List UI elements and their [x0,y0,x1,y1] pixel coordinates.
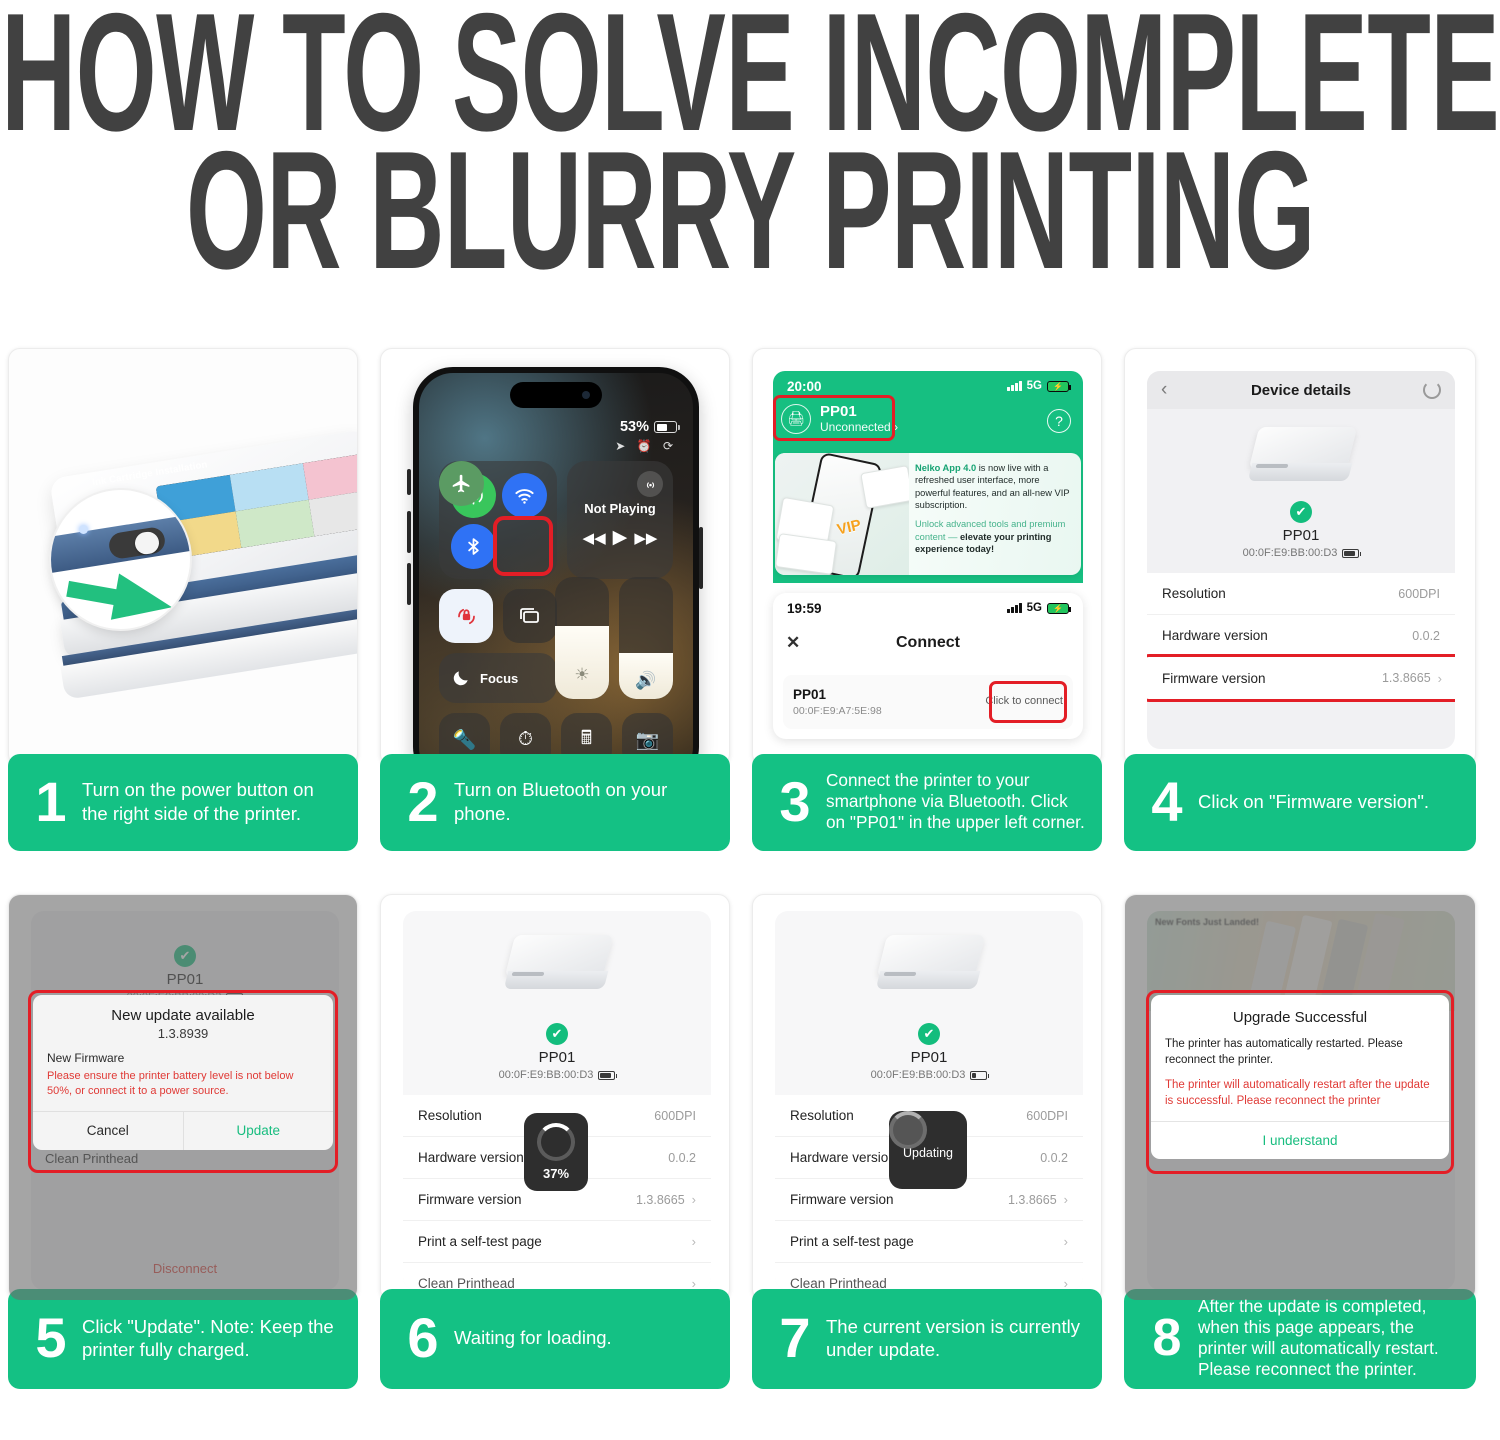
steps-row-2: ✔ PP01 00:0F:E9:BB:00:D3 Print a self-te… [8,894,1492,1389]
promo-banner[interactable]: VIP Nelko App 4.0 is now live with a ref… [775,453,1081,575]
row-value: › [1064,1234,1068,1249]
device-details-screen-updating: ✔ PP01 00:0F:E9:BB:00:D3 Resolution 600D… [775,911,1083,1290]
sheet-network-label: 5G [1027,602,1042,614]
sheet-battery-charging-icon: ⚡ [1047,603,1069,614]
rewind-icon[interactable]: ◀◀ [583,529,606,547]
iphone-control-center-screenshot: 53% ➤ ⏰ ⟳ [380,348,730,766]
chevron-right-icon: › [1064,1234,1068,1249]
upgrade-successful-screenshot: New Fonts Just Landed! AI background rem… [1124,894,1476,1301]
row-firmware-version[interactable]: Firmware version 1.3.8665 › [1147,657,1455,699]
connected-check-icon: ✔ [546,1023,568,1045]
media-controls: ◀◀ ▶ ▶▶ [579,526,661,549]
spinner-icon [537,1123,575,1161]
step-card-8: New Fonts Just Landed! AI background rem… [1124,894,1476,1389]
focus-label: Focus [480,671,518,686]
battery-icon [598,1071,615,1080]
moon-icon [451,668,471,688]
nav-title: Device details [1251,382,1351,399]
step-card-7: ✔ PP01 00:0F:E9:BB:00:D3 Resolution 600D… [752,894,1102,1389]
app-connect-screenshot: 20:00 5G ⚡ 🖨 PP01 Unconnected › [752,348,1102,766]
cc-top-row: Not Playing ◀◀ ▶ ▶▶ [439,461,673,579]
step-text-2: Turn on Bluetooth on your phone. [454,778,716,825]
sheet-header: ✕ Connect [773,623,1083,663]
step-text-8: After the update is completed, when this… [1198,1296,1462,1379]
back-icon[interactable]: ‹ [1161,379,1167,401]
title-line-2: OR BLURRY PRINTING [186,142,1315,278]
chevron-right-icon: › [692,1276,696,1290]
printer-photo: Ink Cartridge Installation [8,348,358,766]
battery-icon [654,421,677,433]
battery-percent-label: 53% [620,419,649,435]
power-led-icon [79,525,88,534]
brightness-icon: ☀ [574,665,589,685]
device-details-screen-loading: ✔ PP01 00:0F:E9:BB:00:D3 Resolution 600D… [403,911,711,1290]
row-value: 0.0.2 [668,1151,696,1165]
loading-screenshot: ✔ PP01 00:0F:E9:BB:00:D3 Resolution 600D… [380,894,730,1301]
discovered-device-name: PP01 [793,687,882,702]
step-number-7: 7 [764,1310,826,1366]
step-card-6: ✔ PP01 00:0F:E9:BB:00:D3 Resolution 600D… [380,894,730,1389]
device-mac: 00:0F:E9:BB:00:D3 [403,1069,711,1081]
cc-sliders: ☀ 🔊 [555,577,673,699]
row-label: Resolution [790,1108,854,1123]
step-caption-4: 4 Click on "Firmware version". [1124,754,1476,851]
chevron-right-icon: › [1064,1192,1068,1207]
device-chip-highlight-box [773,395,895,441]
row-label: Clean Printhead [418,1276,515,1290]
dialog-highlight-box [28,990,338,1173]
play-icon[interactable]: ▶ [613,526,628,549]
row-value: 1.3.8665 › [636,1192,696,1207]
printer-illustration [1248,427,1354,493]
sheet-status-right: 5G ⚡ [1007,602,1069,614]
row-resolution[interactable]: Resolution 600DPI [1147,573,1455,615]
chevron-right-icon: › [692,1234,696,1249]
device-name: PP01 [775,1049,1083,1066]
step-text-7: The current version is currently under u… [826,1315,1088,1362]
close-icon[interactable]: ✕ [786,633,800,653]
step-text-6: Waiting for loading. [454,1326,612,1349]
loading-toast: 37% [524,1113,588,1191]
firmware-version-highlight[interactable]: Firmware version 1.3.8665 › [1147,654,1455,702]
step-caption-6: 6 Waiting for loading. [380,1289,730,1389]
step-text-4: Click on "Firmware version". [1198,790,1429,813]
control-center-status: 53% ➤ ⏰ ⟳ [615,419,677,453]
step-card-4: ‹ Device details ✔ PP01 00:0F:E9:BB:00:D… [1124,348,1476,851]
device-name: PP01 [1147,527,1455,544]
page-title: HOW TO SOLVE INCOMPLETE OR BLURRY PRINTI… [0,0,1500,310]
phone-power-button [699,527,703,589]
steps-grid: Ink Cartridge Installation [8,348,1492,1389]
steps-row-1: Ink Cartridge Installation [8,348,1492,851]
step-card-1: Ink Cartridge Installation [8,348,358,851]
step-caption-1: 1 Turn on the power button on the right … [8,754,358,851]
phone-volume-up [407,511,411,553]
connect-sheet: 19:59 5G ⚡ ✕ Connect [773,593,1083,739]
promo-image: VIP [775,453,909,575]
step-caption-2: 2 Turn on Bluetooth on your phone. [380,754,730,851]
progress-percent: 37% [543,1166,569,1181]
refresh-icon[interactable] [1423,381,1441,399]
row-value: › [692,1276,696,1290]
phone-volume-down [407,563,411,605]
battery-charging-icon [970,1071,987,1080]
step-caption-8: 8 After the update is completed, when th… [1124,1289,1476,1389]
row-value: 600DPI [1398,587,1440,601]
row-label: Firmware version [1162,671,1266,686]
chevron-right-icon: › [1438,671,1442,686]
sheet-time: 19:59 [787,601,822,616]
rotation-lock-icon[interactable] [439,589,493,643]
now-playing-label: Not Playing [579,501,661,516]
update-dialog-screenshot: ✔ PP01 00:0F:E9:BB:00:D3 Print a self-te… [8,894,358,1301]
step-caption-5: 5 Click "Update". Note: Keep the printer… [8,1289,358,1389]
help-icon[interactable]: ? [1047,409,1071,433]
device-name: PP01 [403,1049,711,1066]
details-list: Resolution 600DPI Hardware version 0.0.2… [1147,573,1455,699]
connected-check-icon: ✔ [1290,501,1312,523]
bluetooth-highlight-box [493,516,553,576]
step-card-2: 53% ➤ ⏰ ⟳ [380,348,730,851]
fast-forward-icon[interactable]: ▶▶ [634,529,657,547]
chevron-right-icon: › [1064,1276,1068,1290]
row-value: 600DPI [654,1109,696,1123]
device-details-screenshot: ‹ Device details ✔ PP01 00:0F:E9:BB:00:D… [1124,348,1476,766]
device-details-screen: ‹ Device details ✔ PP01 00:0F:E9:BB:00:D… [1147,371,1455,749]
printer-illustration [876,935,982,1001]
step-text-3: Connect the printer to your smartphone v… [826,770,1088,832]
row-label: Firmware version [418,1192,522,1207]
row-label: Print a self-test page [418,1234,542,1249]
row-value: 0.0.2 [1412,629,1440,643]
row-label: Resolution [1162,586,1226,601]
focus-tile[interactable]: Focus [439,653,557,703]
discovered-device-mac: 00:0F:E9:A7:5E:98 [793,705,882,717]
step-number-2: 2 [392,774,454,830]
step-text-1: Turn on the power button on the right si… [82,778,344,825]
signal-bars-icon [1007,381,1022,391]
step-card-3: 20:00 5G ⚡ 🖨 PP01 Unconnected › [752,348,1102,851]
status-indicator-icons: ➤ ⏰ ⟳ [615,439,677,453]
promo-text: Nelko App 4.0 is now live with a refresh… [909,453,1081,575]
dynamic-island [510,382,602,408]
spinner-icon [889,1111,927,1149]
phone-frame: 53% ➤ ⏰ ⟳ [413,367,699,766]
row-value: 600DPI [1026,1109,1068,1123]
row-clean-printhead[interactable]: Clean Printhead › [403,1263,711,1290]
row-selftest[interactable]: Print a self-test page › [775,1221,1083,1263]
airplay-icon[interactable] [637,471,663,497]
step-number-8: 8 [1136,1312,1198,1364]
step-number-6: 6 [392,1310,454,1366]
row-label: Hardware version [1162,628,1268,643]
row-value: › [1064,1276,1068,1290]
step-number-4: 4 [1136,774,1198,830]
step-text-5: Click "Update". Note: Keep the printer f… [82,1315,344,1362]
infographic-page: HOW TO SOLVE INCOMPLETE OR BLURRY PRINTI… [0,0,1500,1440]
battery-charging-icon: ⚡ [1047,381,1069,392]
row-label: Hardware version [790,1150,896,1165]
chevron-right-icon: › [692,1192,696,1207]
step-caption-7: 7 The current version is currently under… [752,1289,1102,1389]
device-details-navbar: ‹ Device details [1147,371,1455,409]
updating-screenshot: ✔ PP01 00:0F:E9:BB:00:D3 Resolution 600D… [752,894,1102,1301]
row-label: Print a self-test page [790,1234,914,1249]
step-card-5: ✔ PP01 00:0F:E9:BB:00:D3 Print a self-te… [8,894,358,1389]
battery-icon [1342,549,1359,558]
bluetooth-icon[interactable] [451,524,496,569]
connect-button-highlight-box [989,681,1067,723]
connected-check-icon: ✔ [918,1023,940,1045]
media-playback-tile[interactable]: Not Playing ◀◀ ▶ ▶▶ [567,461,673,579]
sheet-title-label: Connect [896,634,960,652]
updating-toast: Updating [889,1111,967,1189]
screen-mirroring-icon[interactable] [503,589,557,643]
row-value: 1.3.8665 › [1382,671,1442,686]
dialog-highlight-box [1146,990,1454,1174]
row-clean-printhead[interactable]: Clean Printhead › [775,1263,1083,1290]
volume-icon: 🔊 [635,671,656,691]
magnifier-circle [51,490,190,629]
device-mac: 00:0F:E9:BB:00:D3 [1147,547,1455,559]
status-time: 20:00 [787,379,822,394]
printer-illustration [504,935,610,1001]
volume-slider[interactable]: 🔊 [619,577,673,699]
green-arrow-icon [65,564,177,622]
row-hardware-version[interactable]: Hardware version 0.0.2 [1147,615,1455,657]
front-camera-icon [582,391,590,399]
row-value: 0.0.2 [1040,1151,1068,1165]
device-mac: 00:0F:E9:BB:00:D3 [775,1069,1083,1081]
step-number-5: 5 [20,1310,82,1366]
status-right: 5G ⚡ [1007,380,1069,392]
row-selftest[interactable]: Print a self-test page › [403,1221,711,1263]
row-label: Firmware version [790,1192,894,1207]
phone-screen: 53% ➤ ⏰ ⟳ [419,373,693,766]
sheet-status-bar: 19:59 5G ⚡ [773,593,1083,623]
discovered-device-row[interactable]: PP01 00:0F:E9:A7:5E:98 Click to connect [783,675,1073,729]
sheet-signal-bars-icon [1007,603,1022,613]
step-number-3: 3 [764,774,826,830]
phone-mute-switch [407,469,411,495]
row-label: Clean Printhead [790,1276,887,1290]
step-number-1: 1 [20,774,82,830]
network-label: 5G [1027,380,1042,392]
row-value: 1.3.8665 › [1008,1192,1068,1207]
brightness-slider[interactable]: ☀ [555,577,609,699]
airplane-mode-icon[interactable] [439,461,484,506]
row-label: Hardware version [418,1150,524,1165]
row-value: › [692,1234,696,1249]
battery-status: 53% [615,419,677,435]
row-label: Resolution [418,1108,482,1123]
app-home-header: 20:00 5G ⚡ 🖨 PP01 Unconnected › [773,371,1083,583]
step-caption-3: 3 Connect the printer to your smartphone… [752,754,1102,851]
wifi-icon[interactable] [502,473,547,518]
promo-lead: Nelko App 4.0 [915,463,976,473]
